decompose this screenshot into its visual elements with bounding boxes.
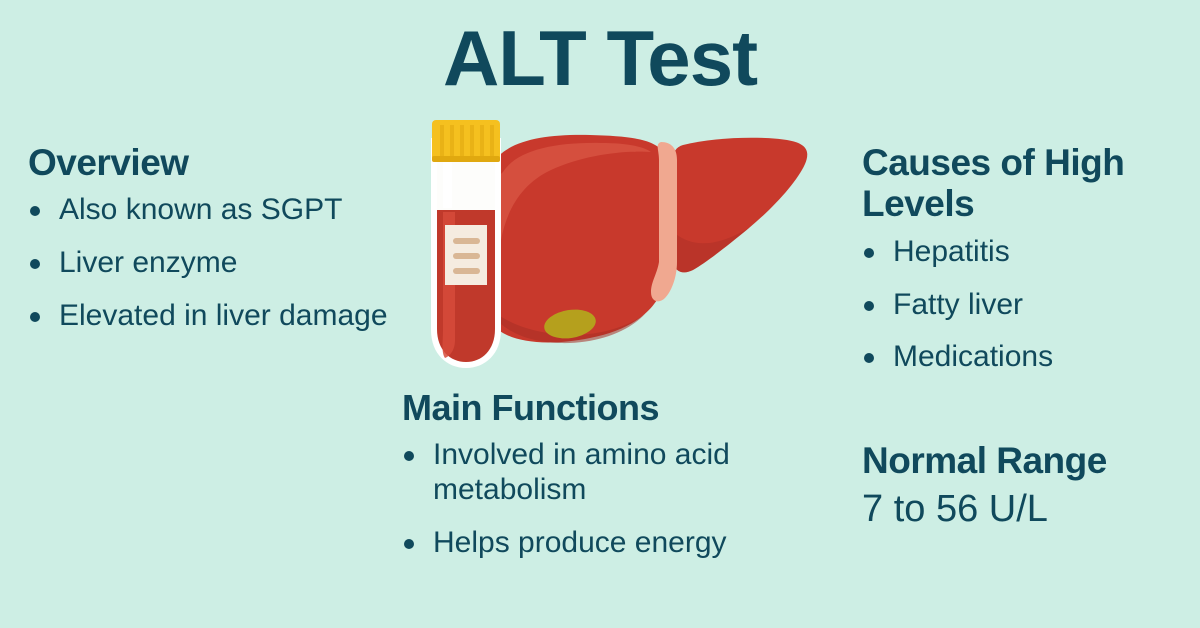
test-tube-label-line [453,253,480,259]
normal-range-heading: Normal Range [862,440,1192,481]
functions-bullet-list: Involved in amino acid metabolism Helps … [402,438,802,560]
test-tube-cap-base [432,156,500,162]
bullet-dot-icon [30,312,40,322]
blood-test-tube-icon [431,120,501,368]
liver-organ-icon [483,135,807,343]
bullet-dot-icon [864,301,874,311]
list-item: Fatty liver [862,288,1192,323]
test-tube-label-line [453,268,480,274]
functions-heading: Main Functions [402,388,802,428]
blood-test-tube-and-liver-illustration [415,112,825,380]
infographic-canvas: ALT Test Overview Also known as SGPT Liv… [0,0,1200,628]
list-item-label: Also known as SGPT [59,193,342,226]
causes-section: Causes of High Levels Hepatitis Fatty li… [862,142,1192,375]
bullet-dot-icon [404,451,414,461]
list-item-label: Helps produce energy [433,526,727,559]
causes-bullet-list: Hepatitis Fatty liver Medications [862,235,1192,375]
causes-heading: Causes of High Levels [862,142,1192,225]
list-item: Also known as SGPT [28,193,398,228]
bullet-dot-icon [404,539,414,549]
list-item-label: Medications [893,340,1053,373]
bullet-dot-icon [864,353,874,363]
bullet-dot-icon [30,259,40,269]
list-item-label: Elevated in liver damage [59,299,388,332]
list-item-label: Involved in amino acid metabolism [433,438,730,506]
page-title: ALT Test [0,18,1200,100]
list-item-label: Liver enzyme [59,246,237,279]
list-item: Medications [862,340,1192,375]
normal-range-section: Normal Range 7 to 56 U/L [862,440,1192,531]
overview-bullet-list: Also known as SGPT Liver enzyme Elevated… [28,193,398,333]
bullet-dot-icon [30,206,40,216]
list-item: Hepatitis [862,235,1192,270]
overview-heading: Overview [28,142,398,183]
bullet-dot-icon [864,248,874,258]
normal-range-value: 7 to 56 U/L [862,489,1192,531]
overview-section: Overview Also known as SGPT Liver enzyme… [28,142,398,334]
list-item: Helps produce energy [402,526,802,561]
list-item-label: Fatty liver [893,288,1023,321]
list-item: Involved in amino acid metabolism [402,438,802,508]
functions-section: Main Functions Involved in amino acid me… [402,388,802,561]
list-item-label: Hepatitis [893,235,1010,268]
test-tube-label-line [453,238,480,244]
list-item: Elevated in liver damage [28,299,398,334]
list-item: Liver enzyme [28,246,398,281]
